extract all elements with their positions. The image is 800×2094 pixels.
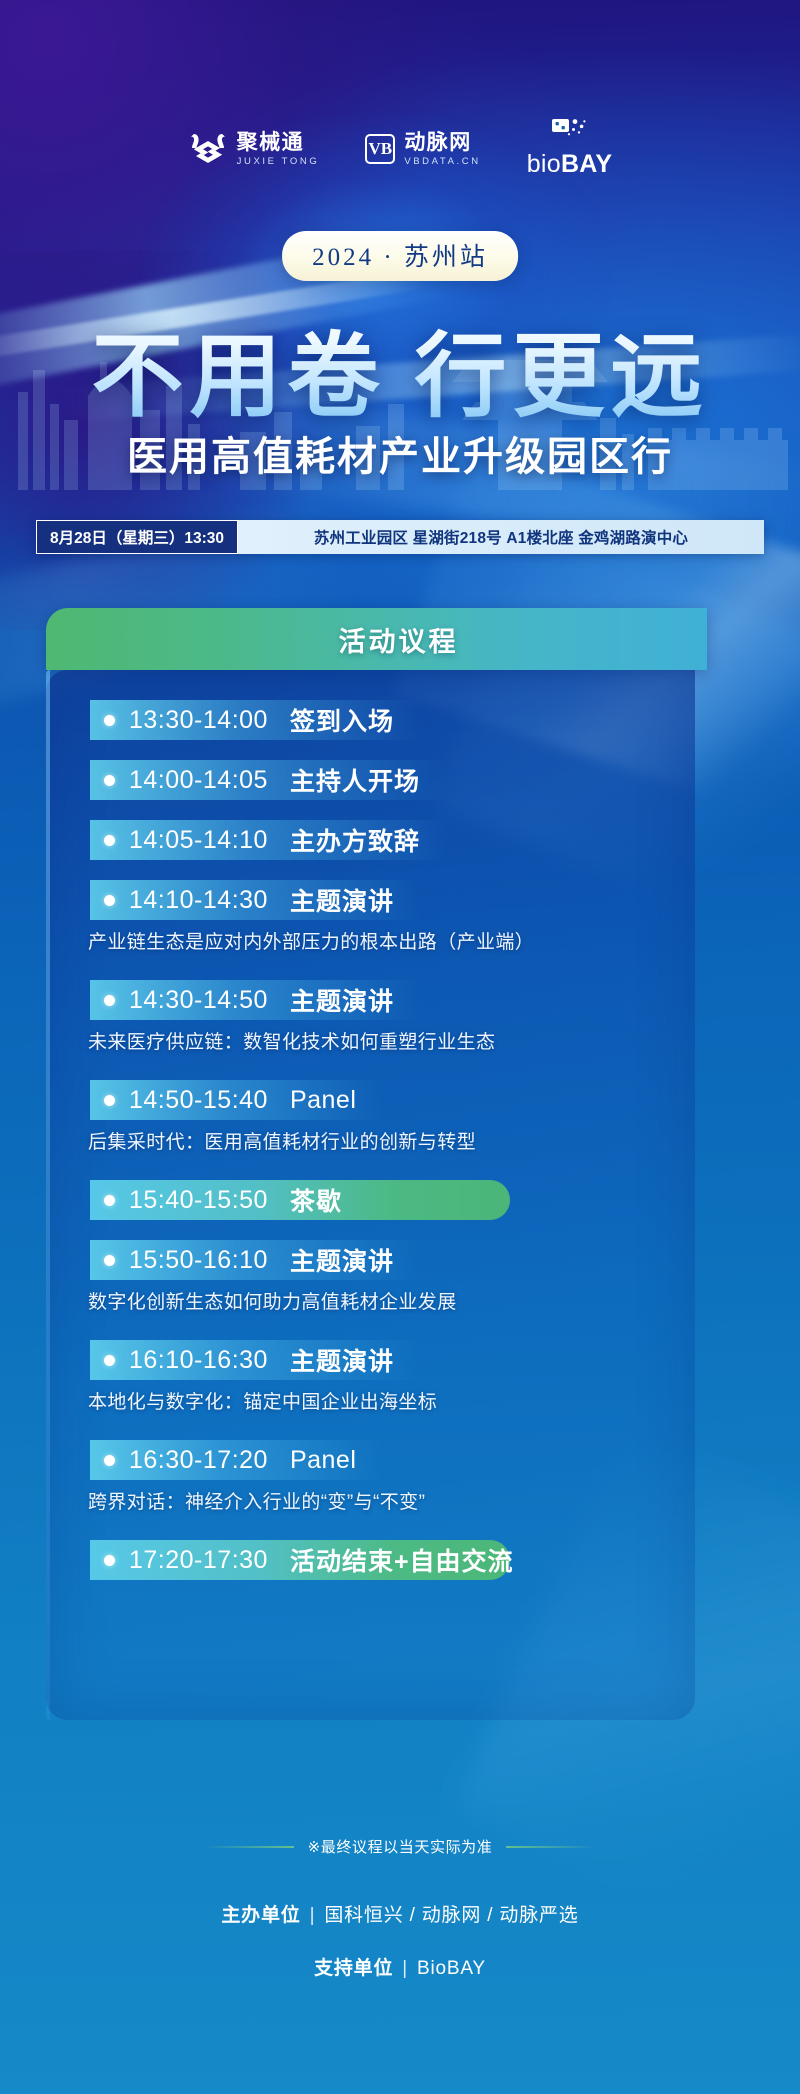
agenda-item-row: 14:50-15:40Panel [90, 1080, 382, 1120]
agenda-item-row: 15:40-15:50茶歇 [90, 1180, 342, 1220]
organizer-line: 主办单位|国科恒兴 / 动脉网 / 动脉严选 [0, 1900, 800, 1927]
organizer-separator: | [310, 1905, 316, 1926]
agenda-header-bar: 活动议程 [46, 608, 707, 670]
bullet-icon [104, 775, 115, 786]
agenda-item-spacer [46, 1518, 695, 1540]
agenda-item-row: 14:05-14:10主办方致辞 [90, 820, 446, 860]
agenda-item-row: 15:50-16:10主题演讲 [90, 1240, 420, 1280]
agenda-item-spacer [46, 1418, 695, 1440]
event-poster: 聚械通 JUXIE TONG VB 动脉网 VBDATA.CN [0, 0, 800, 2094]
agenda-item-spacer [46, 1584, 695, 1600]
agenda-item-time: 13:30-14:00 [129, 706, 268, 735]
juxietong-mark-icon [188, 132, 228, 166]
agenda-item-label: 主题演讲 [290, 882, 394, 918]
agenda-item-time: 16:10-16:30 [129, 1346, 268, 1375]
supporter-separator: | [402, 1958, 408, 1979]
agenda-item-label: 主持人开场 [290, 762, 420, 798]
bottom-gradient-wash [0, 1700, 800, 2094]
agenda-item-time: 15:40-15:50 [129, 1186, 268, 1215]
footnote-rule-left [202, 1846, 294, 1848]
agenda-item-spacer [46, 1058, 695, 1080]
agenda-item-label: 签到入场 [290, 702, 394, 738]
biobay-word-light: bio [527, 150, 561, 178]
agenda-item-row: 14:30-14:50主题演讲 [90, 980, 420, 1020]
agenda-item-label: 主题演讲 [290, 1342, 394, 1378]
agenda-item-description: 未来医疗供应链：数智化技术如何重塑行业生态 [88, 1027, 695, 1054]
agenda-item-label: 主题演讲 [290, 982, 394, 1018]
agenda-header-title: 活动议程 [339, 620, 459, 659]
biobay-word-bold: BAY [561, 150, 612, 178]
event-location: 苏州工业园区 星湖街218号 A1楼北座 金鸡湖路演中心 [238, 520, 764, 554]
agenda-item-label: 茶歇 [290, 1182, 342, 1218]
agenda-list: 13:30-14:00签到入场14:00-14:05主持人开场14:05-14:… [46, 670, 695, 1720]
agenda-item-time: 17:20-17:30 [129, 1546, 268, 1575]
edition-badge: 2024 · 苏州站 [282, 231, 518, 281]
agenda-item: 16:30-17:20Panel跨界对话：神经介入行业的“变”与“不变” [46, 1440, 695, 1514]
agenda-item: 13:30-14:00签到入场 [46, 700, 695, 740]
agenda-item-spacer [46, 744, 695, 760]
agenda-footnote: ※最终议程以当天实际为准 [0, 1836, 800, 1857]
agenda-item: 15:40-15:50茶歇 [46, 1180, 695, 1220]
bullet-icon [104, 715, 115, 726]
agenda-item: 14:50-15:40Panel后集采时代：医用高值耗材行业的创新与转型 [46, 1080, 695, 1154]
agenda-item-label: Panel [290, 1446, 356, 1475]
page-subtitle: 医用高值耗材产业升级园区行 [0, 424, 800, 482]
agenda-item-row: 16:10-16:30主题演讲 [90, 1340, 420, 1380]
agenda-item-label: 主题演讲 [290, 1242, 394, 1278]
agenda-item-row: 14:00-14:05主持人开场 [90, 760, 446, 800]
vb-box-icon: VB [365, 134, 395, 164]
bullet-icon [104, 1255, 115, 1266]
agenda-item-time: 14:10-14:30 [129, 886, 268, 915]
agenda-item-time: 14:05-14:10 [129, 826, 268, 855]
supporter-label: 支持单位 [314, 1958, 393, 1979]
juxie-tong-name-en: JUXIE TONG [237, 157, 320, 167]
supporter-value: BioBAY [417, 1958, 486, 1979]
agenda-item-spacer [46, 958, 695, 980]
agenda-item-row: 16:30-17:20Panel [90, 1440, 382, 1480]
agenda-item-row: 17:20-17:30活动结束+自由交流 [90, 1540, 514, 1580]
agenda-item-description: 产业链生态是应对内外部压力的根本出路（产业端） [88, 927, 695, 954]
bullet-icon [104, 995, 115, 1006]
poster-footer: 主办单位|国科恒兴 / 动脉网 / 动脉严选 支持单位|BioBAY [0, 1900, 800, 2006]
bullet-icon [104, 1095, 115, 1106]
agenda-item-description: 本地化与数字化：锚定中国企业出海坐标 [88, 1387, 695, 1414]
organizer-label: 主办单位 [221, 1905, 300, 1926]
biobay-dots-icon [542, 119, 598, 141]
bullet-icon [104, 1355, 115, 1366]
juxie-tong-name-cn: 聚械通 [237, 132, 320, 153]
agenda-item-time: 14:30-14:50 [129, 986, 268, 1015]
event-datetime: 8月28日（星期三）13:30 [36, 520, 238, 554]
agenda-item-spacer [46, 1318, 695, 1340]
page-title: 不用卷 行更远 [0, 302, 800, 435]
bullet-icon [104, 1455, 115, 1466]
agenda-item-row: 13:30-14:00签到入场 [90, 700, 420, 740]
agenda-item: 14:30-14:50主题演讲未来医疗供应链：数智化技术如何重塑行业生态 [46, 980, 695, 1054]
agenda-item: 14:10-14:30主题演讲产业链生态是应对内外部压力的根本出路（产业端） [46, 880, 695, 954]
agenda-item-label: Panel [290, 1086, 356, 1115]
biobay-wordmark: bioBAY [527, 150, 613, 179]
agenda-item-description: 数字化创新生态如何助力高值耗材企业发展 [88, 1287, 695, 1314]
biobay-logo[interactable]: bioBAY [527, 119, 613, 179]
agenda-item-time: 14:00-14:05 [129, 766, 268, 795]
agenda-card: 活动议程 13:30-14:00签到入场14:00-14:05主持人开场14:0… [46, 608, 754, 1720]
vbdata-name-en: VBDATA.CN [404, 157, 480, 167]
agenda-item-spacer [46, 1224, 695, 1240]
agenda-item-spacer [46, 1158, 695, 1180]
agenda-item: 17:20-17:30活动结束+自由交流 [46, 1540, 695, 1580]
sponsor-logo-row: 聚械通 JUXIE TONG VB 动脉网 VBDATA.CN [0, 118, 800, 180]
agenda-item-time: 14:50-15:40 [129, 1086, 268, 1115]
agenda-item-description: 跨界对话：神经介入行业的“变”与“不变” [88, 1487, 695, 1514]
agenda-item-spacer [46, 804, 695, 820]
agenda-item-description: 后集采时代：医用高值耗材行业的创新与转型 [88, 1127, 695, 1154]
vbdata-logo[interactable]: VB 动脉网 VBDATA.CN [365, 132, 480, 167]
vbdata-name-cn: 动脉网 [404, 132, 480, 153]
agenda-item: 14:00-14:05主持人开场 [46, 760, 695, 800]
agenda-item: 16:10-16:30主题演讲本地化与数字化：锚定中国企业出海坐标 [46, 1340, 695, 1414]
bullet-icon [104, 1195, 115, 1206]
bullet-icon [104, 895, 115, 906]
supporter-line: 支持单位|BioBAY [0, 1953, 800, 1980]
agenda-item-label: 活动结束+自由交流 [290, 1542, 514, 1578]
agenda-item-time: 15:50-16:10 [129, 1246, 268, 1275]
footnote-text: ※最终议程以当天实际为准 [308, 1836, 493, 1857]
agenda-item: 15:50-16:10主题演讲数字化创新生态如何助力高值耗材企业发展 [46, 1240, 695, 1314]
agenda-item-label: 主办方致辞 [290, 822, 420, 858]
footnote-rule-right [506, 1846, 598, 1848]
bullet-icon [104, 835, 115, 846]
agenda-item-spacer [46, 864, 695, 880]
agenda-item-row: 14:10-14:30主题演讲 [90, 880, 420, 920]
event-info-bar: 8月28日（星期三）13:30 苏州工业园区 星湖街218号 A1楼北座 金鸡湖… [36, 520, 764, 554]
agenda-item-time: 16:30-17:20 [129, 1446, 268, 1475]
agenda-item: 14:05-14:10主办方致辞 [46, 820, 695, 860]
organizer-value: 国科恒兴 / 动脉网 / 动脉严选 [324, 1905, 578, 1926]
bullet-icon [104, 1555, 115, 1566]
juxie-tong-logo[interactable]: 聚械通 JUXIE TONG [188, 132, 320, 167]
